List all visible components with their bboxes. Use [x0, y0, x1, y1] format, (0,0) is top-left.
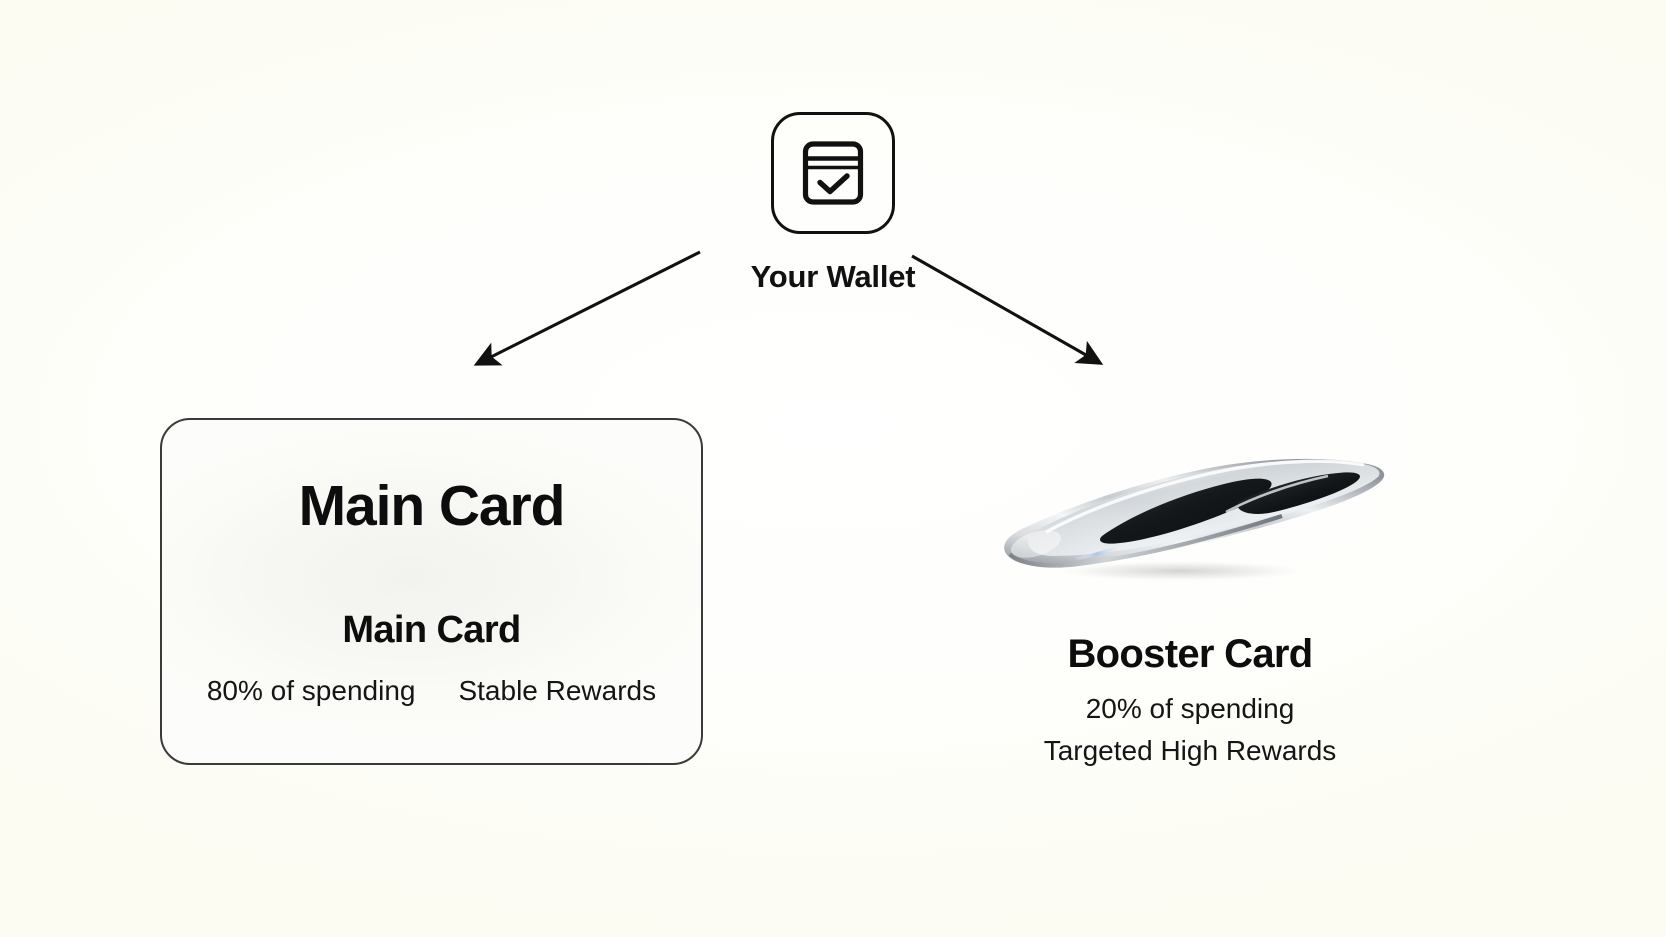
silver-ergonomic-mouse-photo — [990, 440, 1390, 590]
main-card-reward-style: Stable Rewards — [458, 677, 656, 705]
diagram-canvas: Your Wallet Main Card Main Card 80% of s… — [0, 0, 1666, 937]
main-card-metrics: 80% of spending Stable Rewards — [207, 677, 656, 705]
wallet-label: Your Wallet — [751, 259, 916, 295]
booster-card-spending-share: 20% of spending — [1086, 691, 1295, 727]
wallet-node: Your Wallet — [0, 112, 1666, 295]
main-card-spending-share: 80% of spending — [207, 677, 416, 705]
wallet-card-check-icon[interactable] — [771, 112, 895, 234]
booster-card-title: Booster Card — [1068, 634, 1313, 674]
main-card-node[interactable]: Main Card Main Card 80% of spending Stab… — [160, 418, 703, 765]
booster-card-node[interactable]: Booster Card 20% of spending Targeted Hi… — [960, 440, 1420, 770]
booster-card-reward-style: Targeted High Rewards — [1044, 733, 1337, 769]
main-card-title: Main Card — [299, 478, 565, 535]
main-card-subtitle: Main Card — [342, 611, 520, 649]
